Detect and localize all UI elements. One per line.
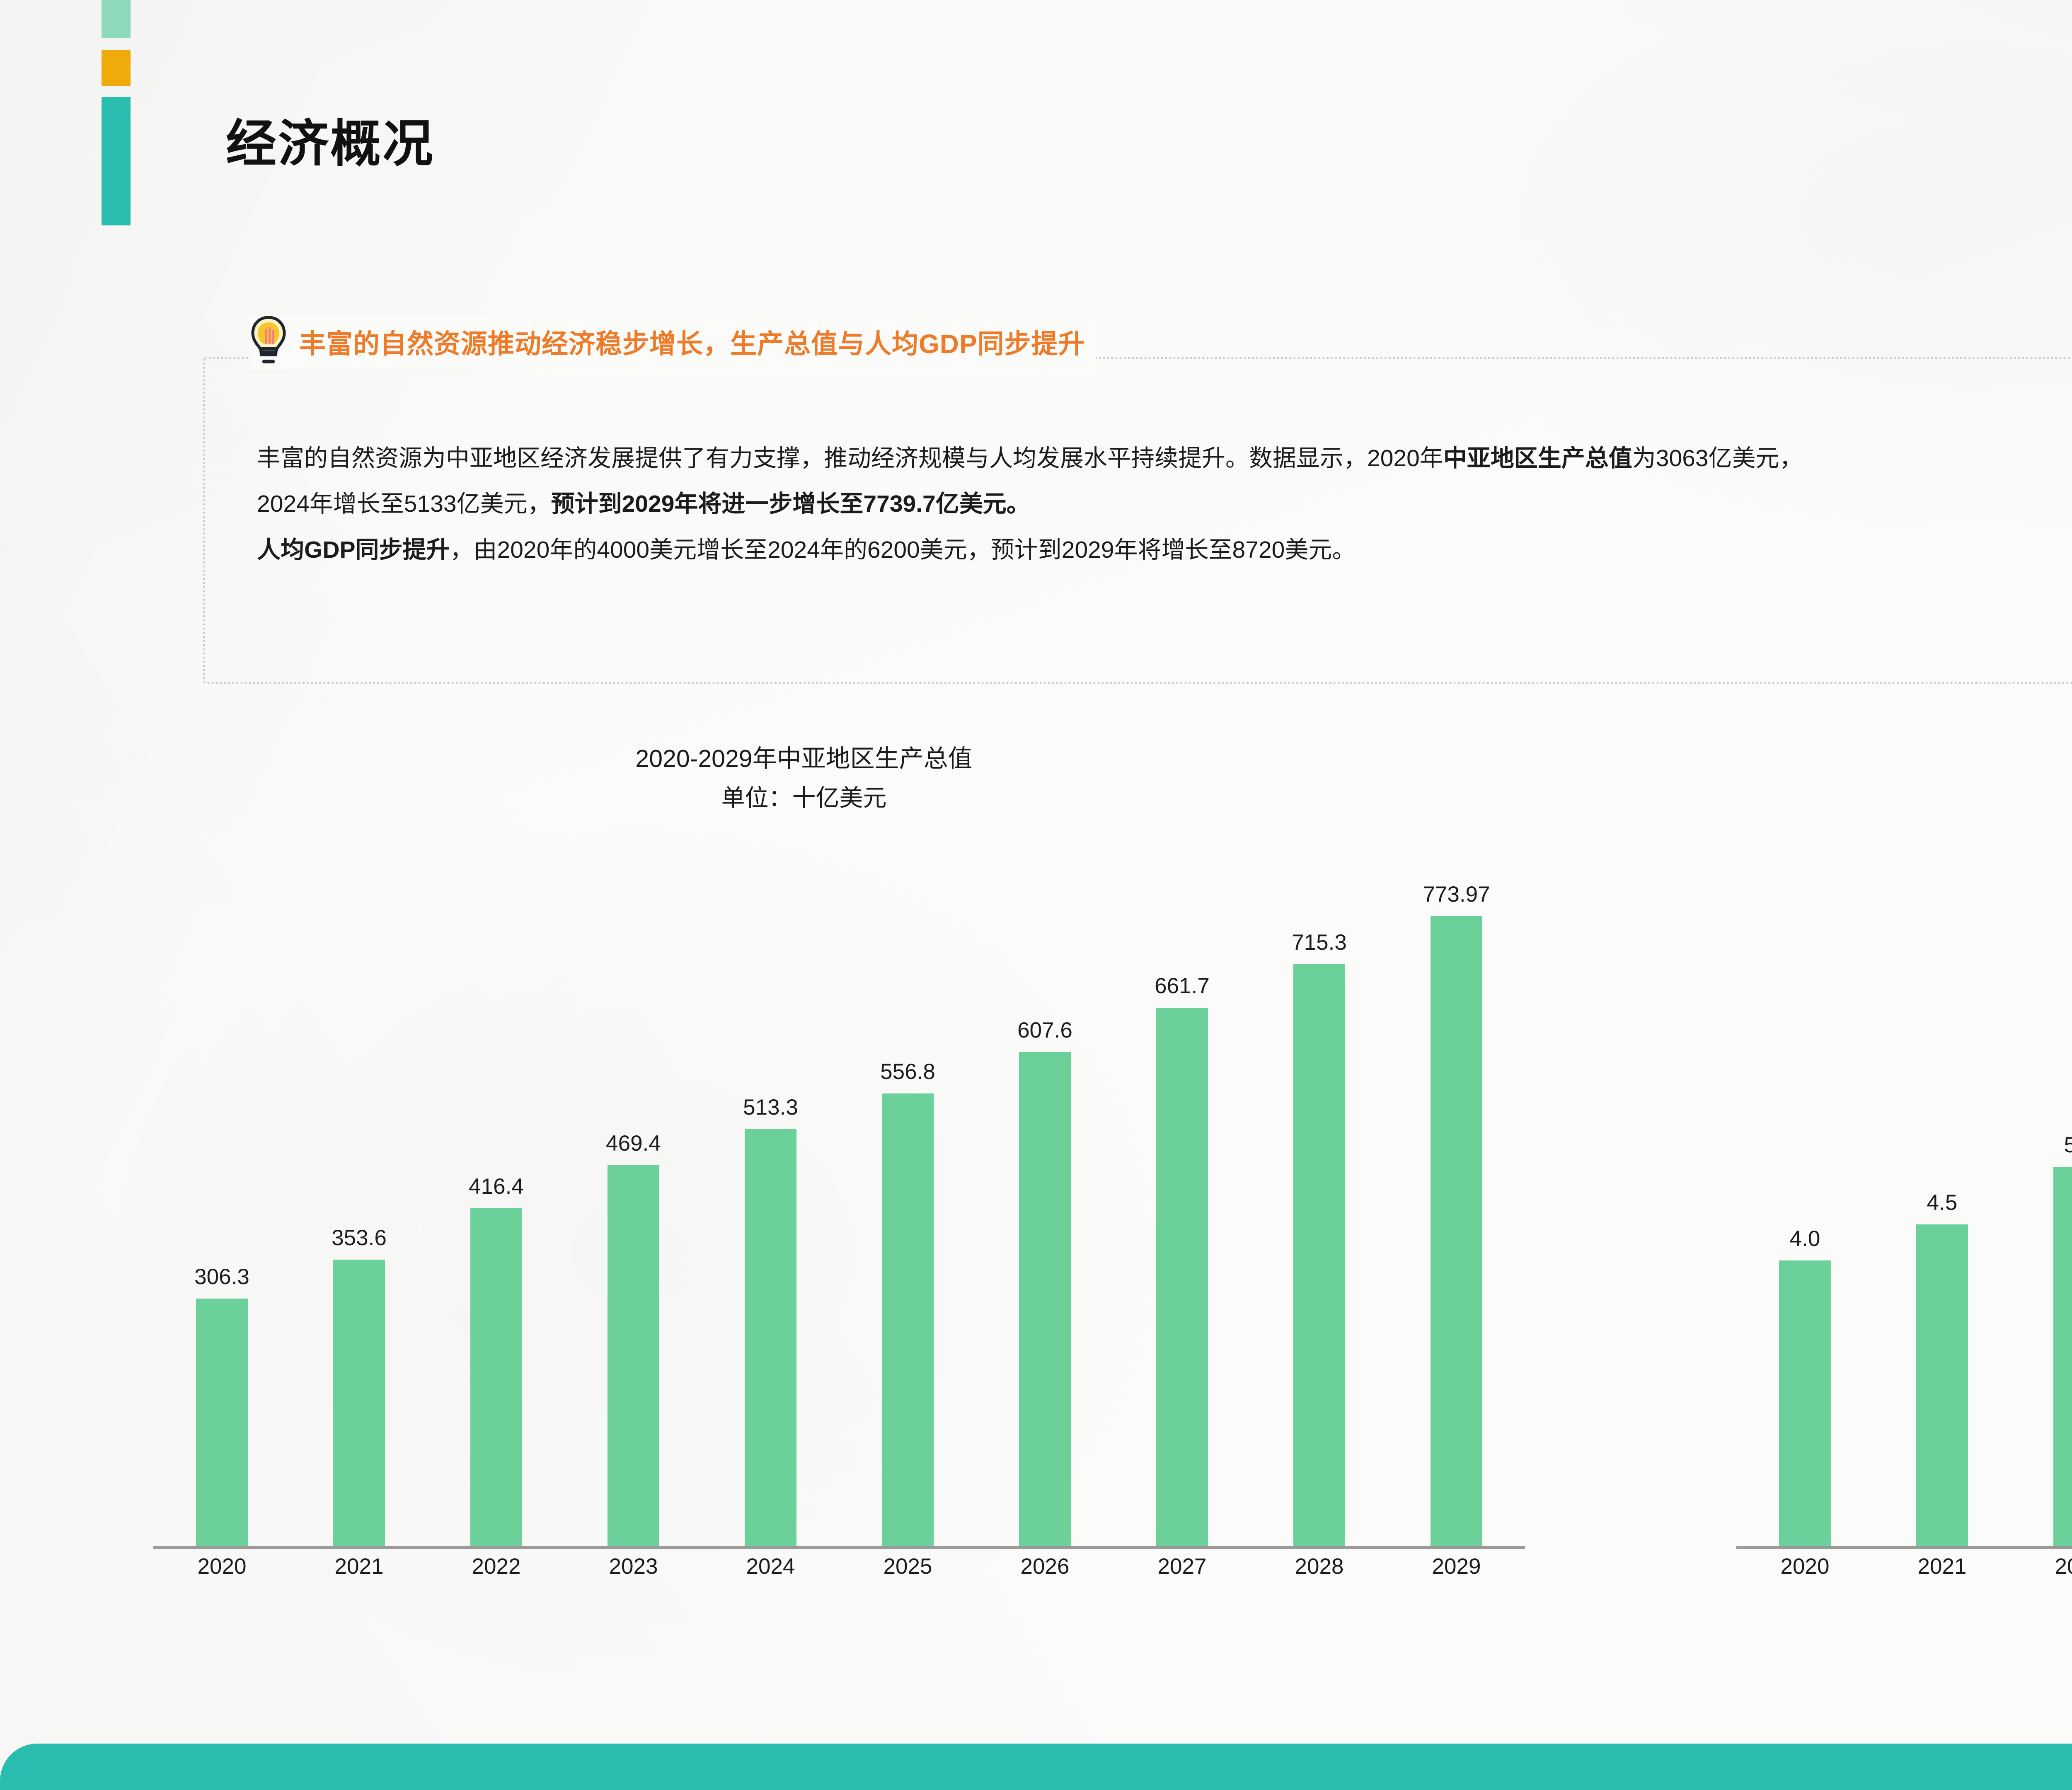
bar-rect — [1293, 964, 1345, 1549]
bar-value-label: 469.4 — [606, 1131, 661, 1156]
chart-subtitle: 单位：千美元 — [1641, 779, 2072, 813]
x-axis-labels: 2020202120222023202420252026202720282029 — [1736, 1554, 2072, 1595]
page-title: 经济概况 — [226, 103, 435, 176]
x-axis-tick-label: 2027 — [1113, 1554, 1251, 1579]
bar-column: 4.5 — [1874, 878, 2011, 1549]
x-axis-tick-label: 2025 — [839, 1554, 976, 1579]
bar-value-label: 353.6 — [332, 1225, 387, 1251]
lightbulb-icon — [249, 315, 288, 369]
bar-value-label: 416.4 — [469, 1174, 524, 1199]
bar-column: 353.6 — [290, 878, 428, 1549]
bar-value-label: 4.0 — [1790, 1226, 1820, 1251]
bar-column: 607.6 — [976, 878, 1113, 1549]
bar-column: 556.8 — [839, 878, 976, 1549]
x-axis-tick-label: 2023 — [565, 1554, 702, 1579]
chart-title: 2020-2029年中亚地区人均GDP — [1641, 742, 2072, 776]
bar-rect — [470, 1208, 522, 1549]
accent-bar-teal — [102, 97, 131, 225]
x-axis-tick-label: 2028 — [1251, 1554, 1388, 1579]
x-axis-line — [153, 1546, 1525, 1549]
chart-gdp-total: 2020-2029年中亚地区生产总值 单位：十亿美元 306.3353.6416… — [58, 742, 1550, 1703]
bar-rect — [1156, 1008, 1208, 1549]
insight-heading-row: 丰富的自然资源推动经济稳步增长，生产总值与人均GDP同步提升 — [249, 315, 1096, 369]
insight-line-2: 2024年增长至5133亿美元，预计到2029年将进一步增长至7739.7亿美元… — [257, 485, 2072, 523]
bar-value-label: 607.6 — [1017, 1018, 1072, 1043]
x-axis-tick-label: 2020 — [153, 1554, 290, 1579]
bar-value-label: 306.3 — [194, 1264, 249, 1289]
x-axis-tick-label: 2021 — [290, 1554, 428, 1579]
x-axis-tick-label: 2026 — [976, 1554, 1113, 1579]
bar-value-label: 773.97 — [1423, 882, 1490, 907]
bar-column: 773.97 — [1388, 878, 1525, 1549]
accent-bar-green — [102, 0, 131, 38]
bar-series: 306.3353.6416.4469.4513.3556.8607.6661.7… — [153, 878, 1525, 1549]
x-axis-tick-label: 2022 — [2011, 1554, 2072, 1579]
insight-heading: 丰富的自然资源推动经济稳步增长，生产总值与人均GDP同步提升 — [299, 323, 1085, 361]
bar-column: 5.3 — [2011, 878, 2072, 1549]
x-axis-tick-label: 2021 — [1874, 1554, 2011, 1579]
x-axis-labels: 2020202120222023202420252026202720282029 — [153, 1554, 1525, 1595]
chart-plot-area: 306.3353.6416.4469.4513.3556.8607.6661.7… — [153, 878, 1525, 1595]
bar-rect — [882, 1093, 934, 1549]
title-accent-bars — [102, 0, 131, 225]
bar-column: 4.0 — [1736, 878, 1874, 1549]
chart-subtitle: 单位：十亿美元 — [58, 779, 1550, 813]
bar-column: 306.3 — [153, 878, 290, 1549]
bar-rect — [1431, 916, 1482, 1549]
chart-plot-area: 4.04.55.35.86.26.77.27.78.28.72 20202021… — [1736, 878, 2072, 1595]
footer-bar — [0, 1744, 2072, 1790]
bar-rect — [1019, 1052, 1071, 1549]
bar-value-label: 661.7 — [1155, 973, 1210, 999]
x-axis-tick-label: 2029 — [1388, 1554, 1525, 1579]
bar-rect — [1779, 1260, 1831, 1549]
bar-rect — [608, 1165, 659, 1549]
bar-column: 661.7 — [1113, 878, 1251, 1549]
bar-column: 469.4 — [565, 878, 702, 1549]
x-axis-line — [1736, 1546, 2072, 1549]
chart-gdp-per-capita: 2020-2029年中亚地区人均GDP 单位：千美元 4.04.55.35.86… — [1641, 742, 2072, 1703]
bar-rect — [2053, 1167, 2072, 1549]
bar-rect — [745, 1129, 796, 1549]
x-axis-tick-label: 2024 — [702, 1554, 839, 1579]
insight-line-3: 人均GDP同步提升，由2020年的4000美元增长至2024年的6200美元，预… — [257, 531, 2072, 569]
bar-value-label: 513.3 — [743, 1095, 798, 1120]
bar-series: 4.04.55.35.86.26.77.27.78.28.72 — [1736, 878, 2072, 1549]
bar-rect — [1916, 1224, 1968, 1549]
bar-rect — [333, 1260, 385, 1549]
accent-bar-yellow — [102, 50, 131, 86]
bar-value-label: 5.3 — [2064, 1132, 2072, 1158]
bar-column: 715.3 — [1251, 878, 1388, 1549]
bar-column: 416.4 — [428, 878, 565, 1549]
accent-gap-2 — [102, 86, 131, 97]
bar-value-label: 556.8 — [880, 1059, 935, 1084]
bar-value-label: 4.5 — [1927, 1190, 1958, 1215]
bar-value-label: 715.3 — [1292, 930, 1347, 955]
bar-rect — [196, 1299, 248, 1549]
x-axis-tick-label: 2020 — [1736, 1554, 1874, 1579]
chart-title: 2020-2029年中亚地区生产总值 — [58, 742, 1550, 776]
accent-gap-1 — [102, 38, 131, 50]
insight-paragraph: 丰富的自然资源为中亚地区经济发展提供了有力支撑，推动经济规模与人均发展水平持续提… — [257, 439, 2072, 576]
bar-column: 513.3 — [702, 878, 839, 1549]
insight-line-1: 丰富的自然资源为中亚地区经济发展提供了有力支撑，推动经济规模与人均发展水平持续提… — [257, 439, 2072, 477]
x-axis-tick-label: 2022 — [428, 1554, 565, 1579]
